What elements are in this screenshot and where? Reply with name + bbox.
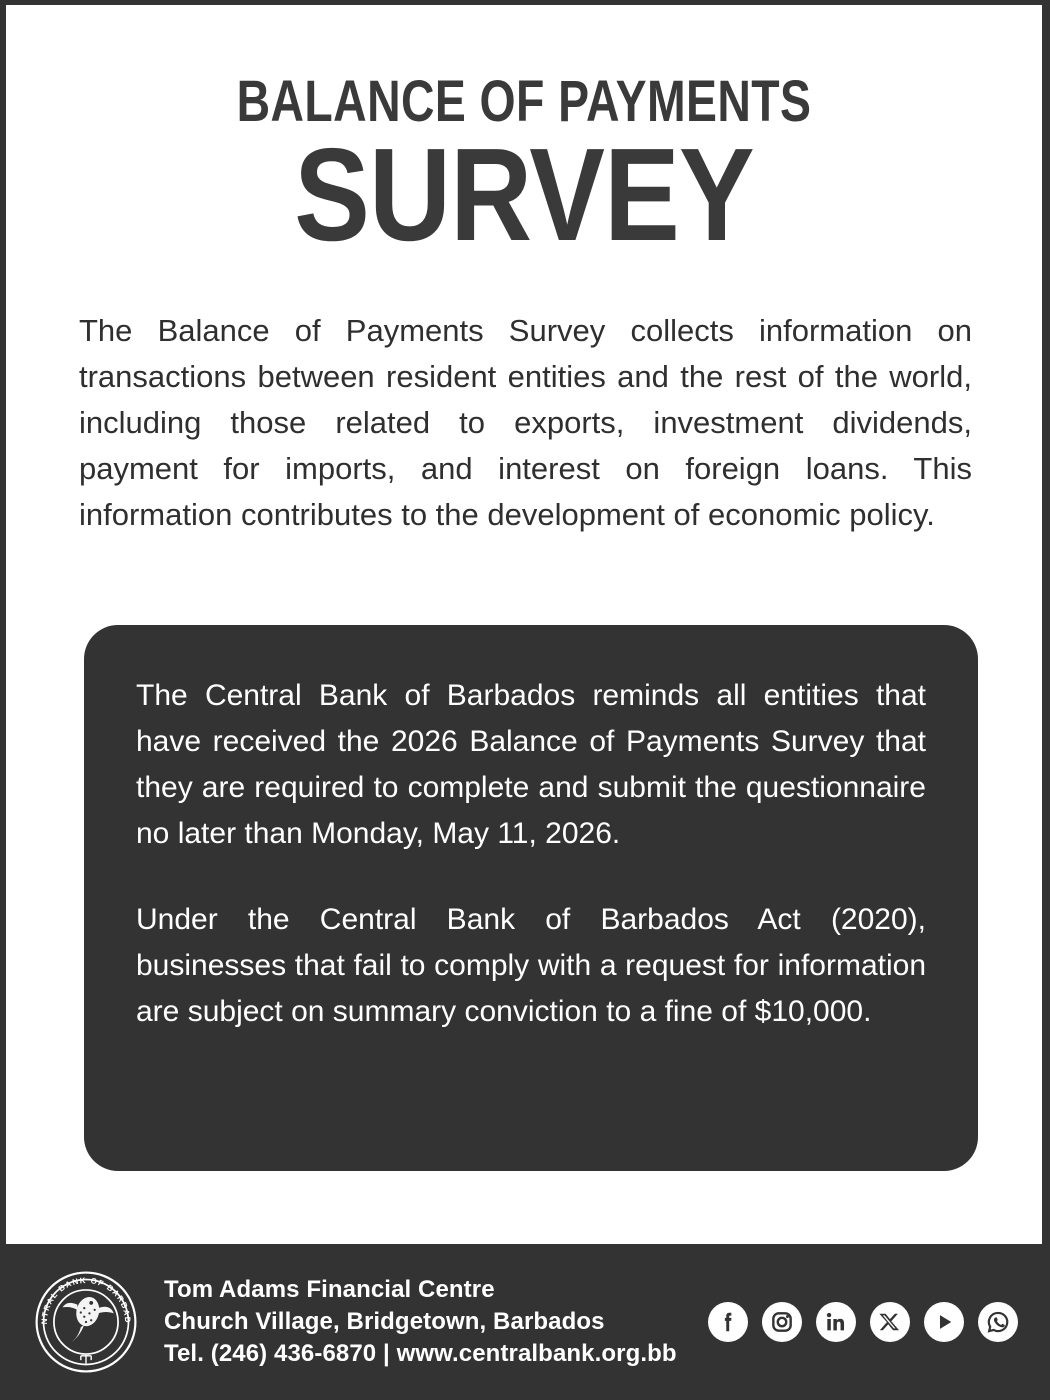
instagram-icon[interactable] xyxy=(762,1302,802,1342)
notice-p2-line-2: businesses that fail to comply with a re… xyxy=(136,949,769,982)
title-kicker: BALANCE OF PAYMENTS xyxy=(110,75,939,128)
x-twitter-icon[interactable] xyxy=(870,1302,910,1342)
intro-line-2: transactions between resident entities a… xyxy=(79,359,878,394)
page-title: BALANCE OF PAYMENTS SURVEY xyxy=(6,75,1042,256)
whatsapp-icon[interactable] xyxy=(978,1302,1018,1342)
notice-p1-line-1: The Central Bank of Barbados reminds all… xyxy=(136,679,859,712)
facebook-icon[interactable] xyxy=(708,1302,748,1342)
flyer-page: BALANCE OF PAYMENTS SURVEY The Balance o… xyxy=(0,0,1050,1400)
linkedin-icon[interactable] xyxy=(816,1302,856,1342)
intro-line-1: The Balance of Payments Survey collects … xyxy=(79,313,972,348)
footer-address-line-3: Tel. (246) 436-6870 | www.centralbank.or… xyxy=(164,1338,677,1370)
notice-paragraph-1: The Central Bank of Barbados reminds all… xyxy=(136,673,926,857)
intro-paragraph: The Balance of Payments Survey collects … xyxy=(79,308,972,538)
central-bank-seal-logo: CENTRAL BANK OF BARBADOS xyxy=(34,1270,138,1374)
footer-address-line-2: Church Village, Bridgetown, Barbados xyxy=(164,1306,677,1338)
notice-p2-line-1: Under the Central Bank of Barbados Act (… xyxy=(136,903,926,936)
x-glyph xyxy=(879,1311,901,1333)
notice-paragraph-2: Under the Central Bank of Barbados Act (… xyxy=(136,897,926,1035)
instagram-glyph xyxy=(769,1309,795,1335)
footer-address: Tom Adams Financial Centre Church Villag… xyxy=(164,1274,677,1370)
facebook-glyph xyxy=(715,1309,741,1335)
play-triangle-glyph xyxy=(931,1309,957,1335)
social-links xyxy=(708,1302,1018,1342)
notice-p1-line-5: May 11, 2026. xyxy=(432,817,620,850)
footer-bar: CENTRAL BANK OF BARBADOS xyxy=(0,1244,1050,1400)
whatsapp-glyph xyxy=(985,1309,1011,1335)
footer-address-line-1: Tom Adams Financial Centre xyxy=(164,1274,677,1306)
notice-box: The Central Bank of Barbados reminds all… xyxy=(84,625,978,1171)
title-main: SURVEY xyxy=(79,134,970,255)
linkedin-glyph xyxy=(823,1309,849,1335)
youtube-icon[interactable] xyxy=(924,1302,964,1342)
notice-p2-line-4: to a fine of $10,000. xyxy=(606,995,871,1028)
intro-line-6: of economic policy. xyxy=(674,497,935,532)
